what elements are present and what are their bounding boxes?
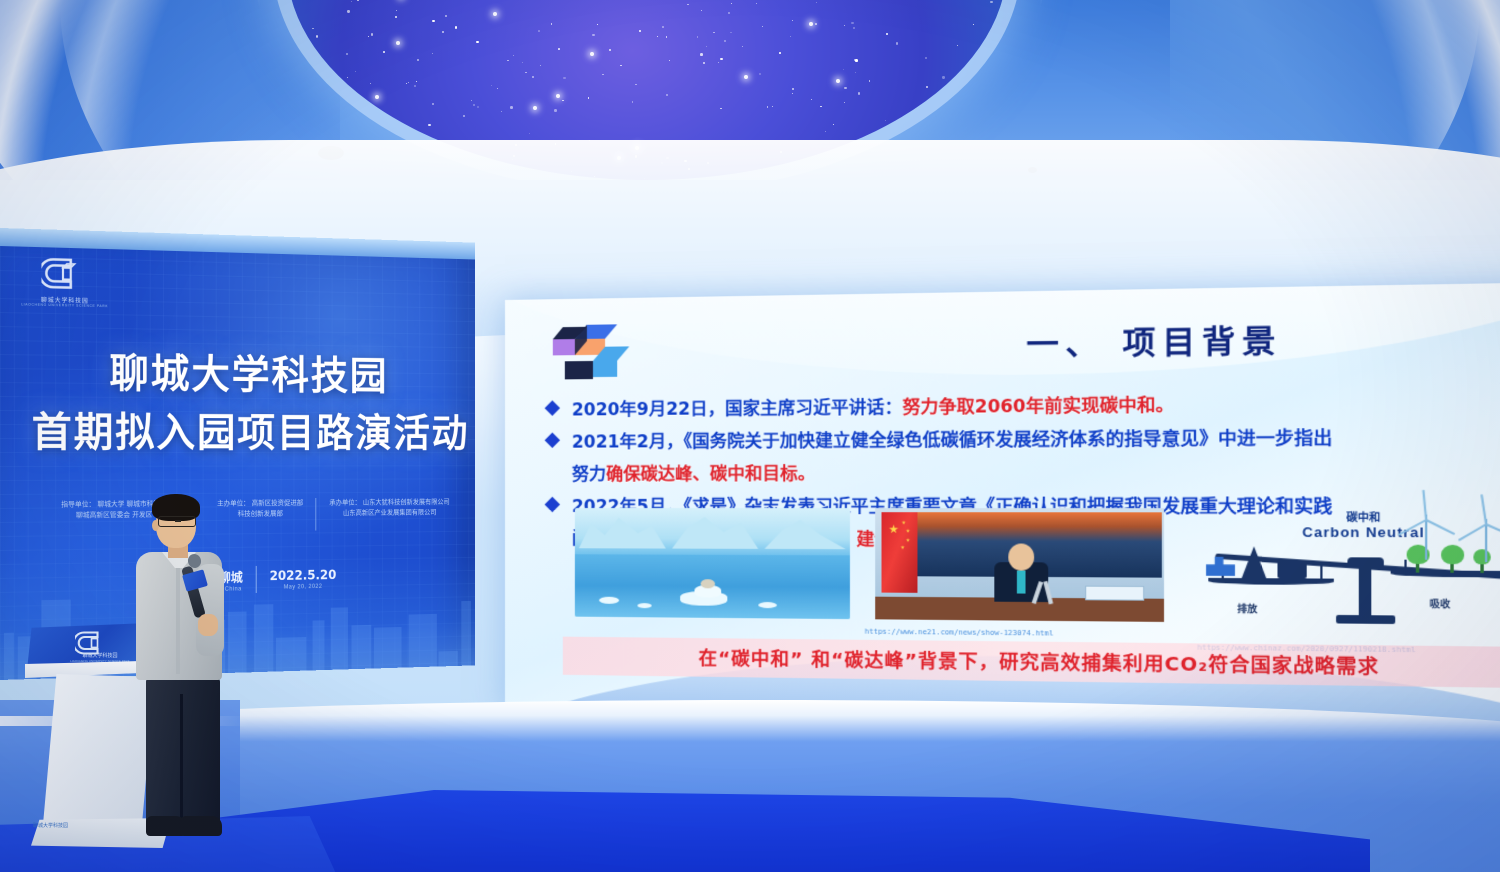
speaker-hand — [198, 614, 218, 636]
led-credit-organizer: 承办单位： 山东大犹科技创新发展有限公司 山东高新区产业发展集团有限公司 — [323, 497, 456, 519]
led-credit-guidance-label: 指导单位： — [61, 500, 95, 508]
speaker-leg-split — [180, 694, 183, 820]
bullet-segment: 努力 — [572, 465, 606, 485]
scale-post — [1359, 564, 1372, 620]
scale-label-absorption: 吸收 — [1430, 596, 1451, 610]
glacier-photo — [575, 508, 850, 619]
bullet-text: 2021年2月，《国务院关于加快建立健全绿色低碳循环发展经济体系的指导意见》中进… — [572, 423, 1332, 458]
led-credit-organizer-line2: 山东高新区产业发展集团有限公司 — [343, 509, 436, 517]
led-credit-host-line2: 科技创新发展部 — [238, 510, 283, 518]
bullet-segment: 2021年2月，《国务院关于加快建立健全绿色低碳循环发展经济体系的指导意见》中进… — [572, 428, 1332, 453]
bullet-diamond-icon — [545, 432, 561, 448]
led-date-en: May 20, 2022 — [270, 584, 337, 591]
speaker-shirt-placket — [176, 564, 180, 674]
speaker-shoe-right — [180, 816, 222, 836]
led-credit-divider-2 — [315, 498, 316, 531]
bullet-segment: 2020年9月22日，国家主席习近平讲话： — [572, 398, 903, 421]
bullet-segment: 努力争取2060年前实现碳中和。 — [902, 395, 1174, 418]
science-park-c-monogram-icon — [41, 253, 80, 294]
bullet-item: 2021年2月，《国务院关于加快建立健全绿色低碳循环发展经济体系的指导意见》中进… — [531, 421, 1500, 458]
conference-stage-scene: 聊城大学科技园 LIAOCHENG UNIVERSITY SCIENCE PAR… — [0, 0, 1500, 872]
bullet-text: 努力确保碳达峰、碳中和目标。 — [572, 459, 816, 490]
carbon-neutral-scale-diagram: 碳中和 Carbon Neutral — [1195, 508, 1500, 645]
scale-base — [1336, 615, 1395, 624]
slide-title: 一、 项目背景 — [810, 311, 1500, 366]
scale-pan-emissions — [1208, 578, 1334, 585]
led-credit-organizer-label: 承办单位： — [329, 499, 361, 507]
speaker-legs — [146, 676, 220, 824]
bullet-item: 努力确保碳达峰、碳中和目标。 — [531, 456, 1500, 490]
bullet-diamond-icon — [545, 400, 561, 416]
presentation-slide: 一、 项目背景 2020年9月22日，国家主席习近平讲话：努力争取2060年前实… — [505, 282, 1500, 730]
isometric-cube-logo-icon — [543, 320, 632, 392]
led-date: 2022.5.20 May 20, 2022 — [270, 567, 337, 591]
led-banner-logo: 聊城大学科技园 LIAOCHENG UNIVERSITY SCIENCE PAR… — [10, 250, 117, 312]
led-banner-title-line2: 首期拟入园项目路演活动 — [32, 398, 470, 458]
led-banner-title-line1: 聊城大学科技园 — [110, 340, 389, 401]
slide-conclusion-text: 在“碳中和” 和“碳达峰”背景下，研究高效捕集利用CO₂符合国家战略需求 — [699, 644, 1380, 679]
slide-image-row: 碳中和 Carbon Neutral — [575, 508, 1500, 645]
carbon-neutral-title: 碳中和 Carbon Neutral — [1195, 508, 1500, 541]
speaker — [128, 494, 238, 854]
carbon-neutral-title-cn: 碳中和 — [1195, 508, 1500, 524]
led-credit-host-line1: 高新区投资促进部 — [252, 499, 303, 507]
bullet-item: 2020年9月22日，国家主席习近平讲话：努力争取2060年前实现碳中和。 — [531, 386, 1500, 425]
projection-screen: 一、 项目背景 2020年9月22日，国家主席习近平讲话：努力争取2060年前实… — [505, 282, 1500, 730]
tree-icon-3 — [1473, 549, 1490, 564]
eyeglasses-icon — [158, 516, 196, 527]
podium-base-logo-text: 聊城大学科技园 — [33, 822, 91, 838]
bullet-diamond-icon — [545, 497, 561, 513]
tree-icon-2 — [1441, 545, 1464, 564]
led-credit-organizer-line1: 山东大犹科技创新发展有限公司 — [363, 498, 450, 506]
led-footer-divider — [256, 566, 257, 593]
led-date-cn: 2022.5.20 — [270, 568, 337, 584]
scale-label-emissions: 排放 — [1237, 601, 1257, 615]
oil-derrick-icon — [1242, 546, 1267, 578]
led-logo-name-en: LIAOCHENG UNIVERSITY SCIENCE PARK — [16, 302, 114, 308]
xi-jinping-speech-photo — [875, 508, 1164, 622]
bullet-segment: 确保碳达峰、碳中和目标。 — [606, 464, 815, 485]
oil-pump-icon — [1277, 561, 1306, 578]
bullet-text: 2020年9月22日，国家主席习近平讲话：努力争取2060年前实现碳中和。 — [572, 390, 1174, 426]
